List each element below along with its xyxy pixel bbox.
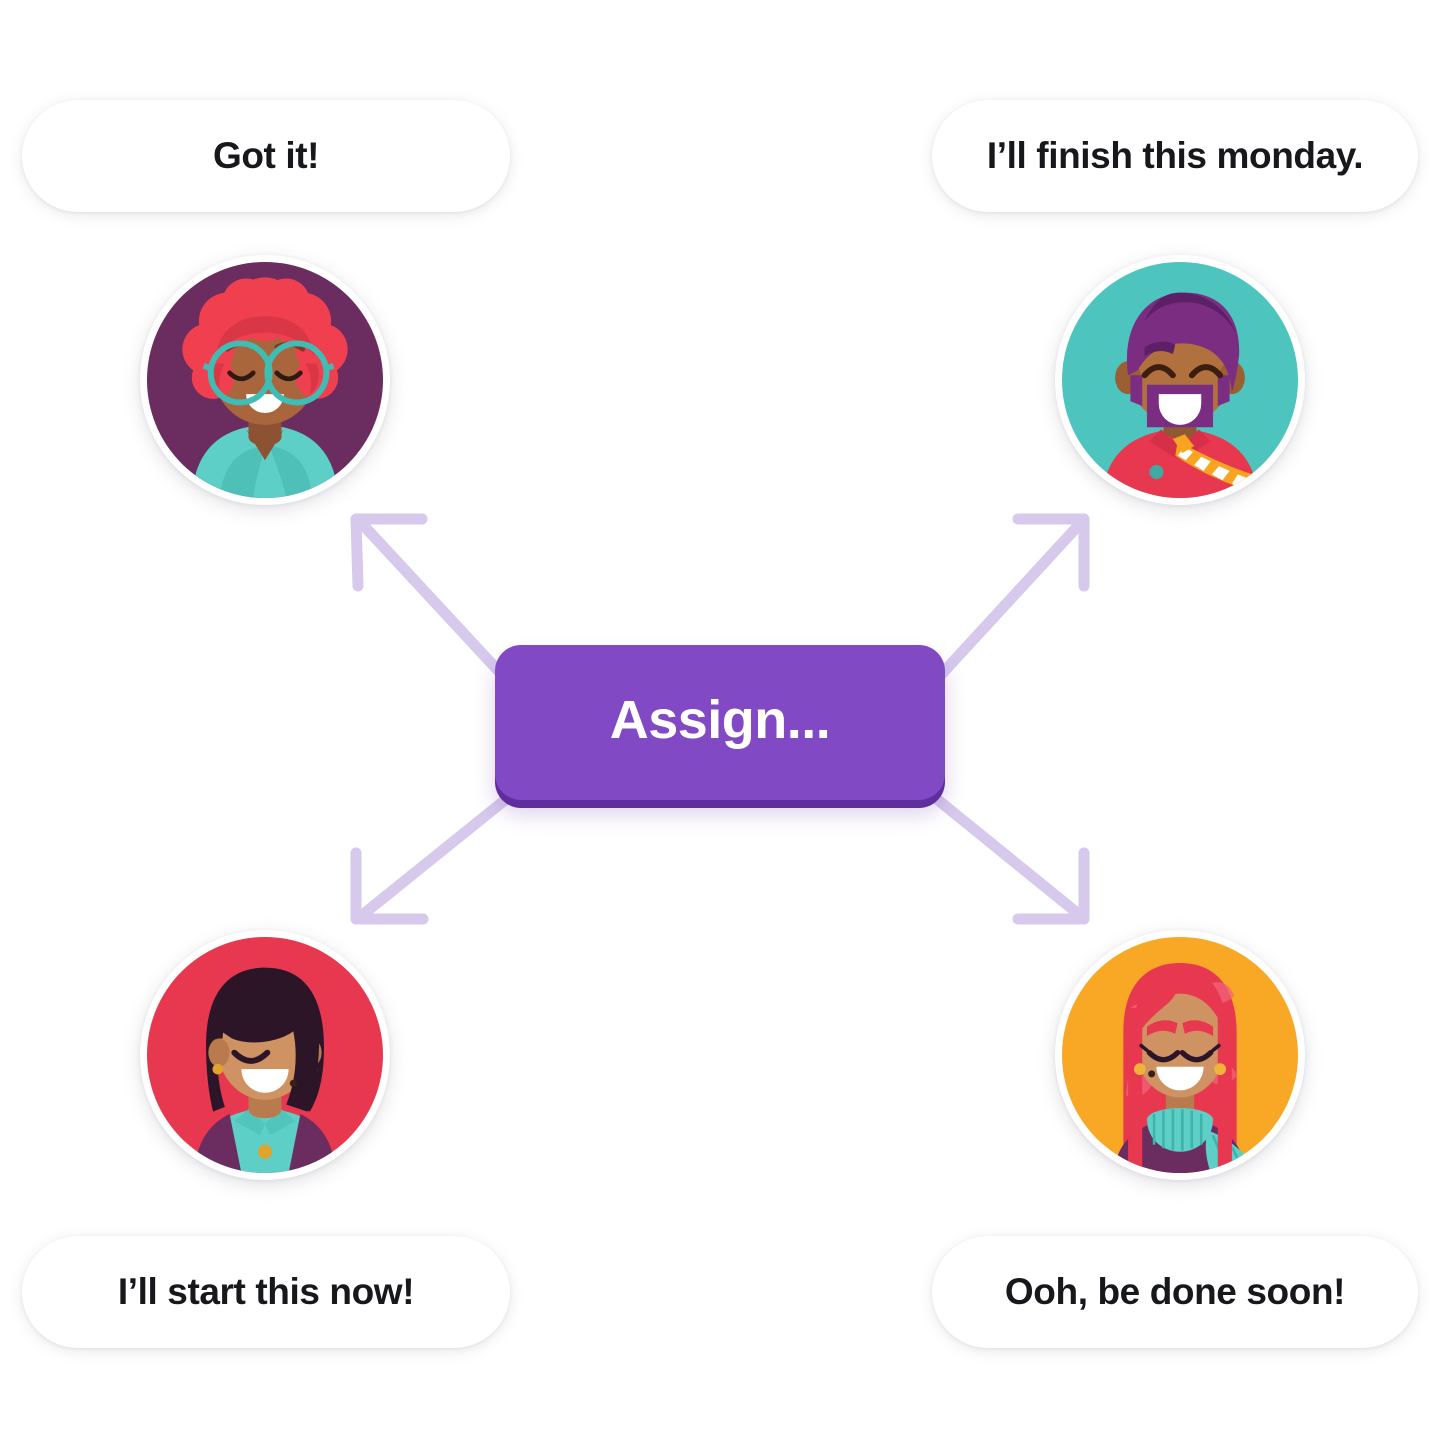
- avatar-man-purple-hair-striped-tie[interactable]: [1055, 255, 1305, 505]
- assign-flow-diagram: Got it! I’ll finish this monday. I’ll st…: [0, 0, 1440, 1440]
- speech-bubble-text: I’ll finish this monday.: [987, 135, 1363, 177]
- speech-bubble-top-left[interactable]: Got it!: [22, 100, 510, 212]
- speech-bubble-text: I’ll start this now!: [118, 1271, 414, 1313]
- speech-bubble-bottom-left[interactable]: I’ll start this now!: [22, 1236, 510, 1348]
- arrow-to-top-right: [938, 519, 1084, 678]
- speech-bubble-top-right[interactable]: I’ll finish this monday.: [932, 100, 1418, 212]
- speech-bubble-text: Ooh, be done soon!: [1005, 1271, 1345, 1313]
- avatar-woman-dark-bob-overalls[interactable]: [140, 930, 390, 1180]
- speech-bubble-bottom-right[interactable]: Ooh, be done soon!: [932, 1236, 1418, 1348]
- assign-button-label: Assign...: [610, 693, 831, 747]
- avatar-woman-pink-hair-teal-scarf[interactable]: [1055, 930, 1305, 1180]
- arrow-to-bottom-right: [938, 800, 1084, 919]
- avatar-image: [147, 937, 383, 1173]
- avatar-woman-red-afro-glasses[interactable]: [140, 255, 390, 505]
- avatar-image: [147, 262, 383, 498]
- avatar-image: [1062, 937, 1298, 1173]
- assign-button[interactable]: Assign...: [495, 645, 945, 800]
- arrow-to-bottom-left: [356, 800, 505, 919]
- arrow-to-top-left: [356, 519, 505, 678]
- avatar-image: [1062, 262, 1298, 498]
- speech-bubble-text: Got it!: [213, 135, 319, 177]
